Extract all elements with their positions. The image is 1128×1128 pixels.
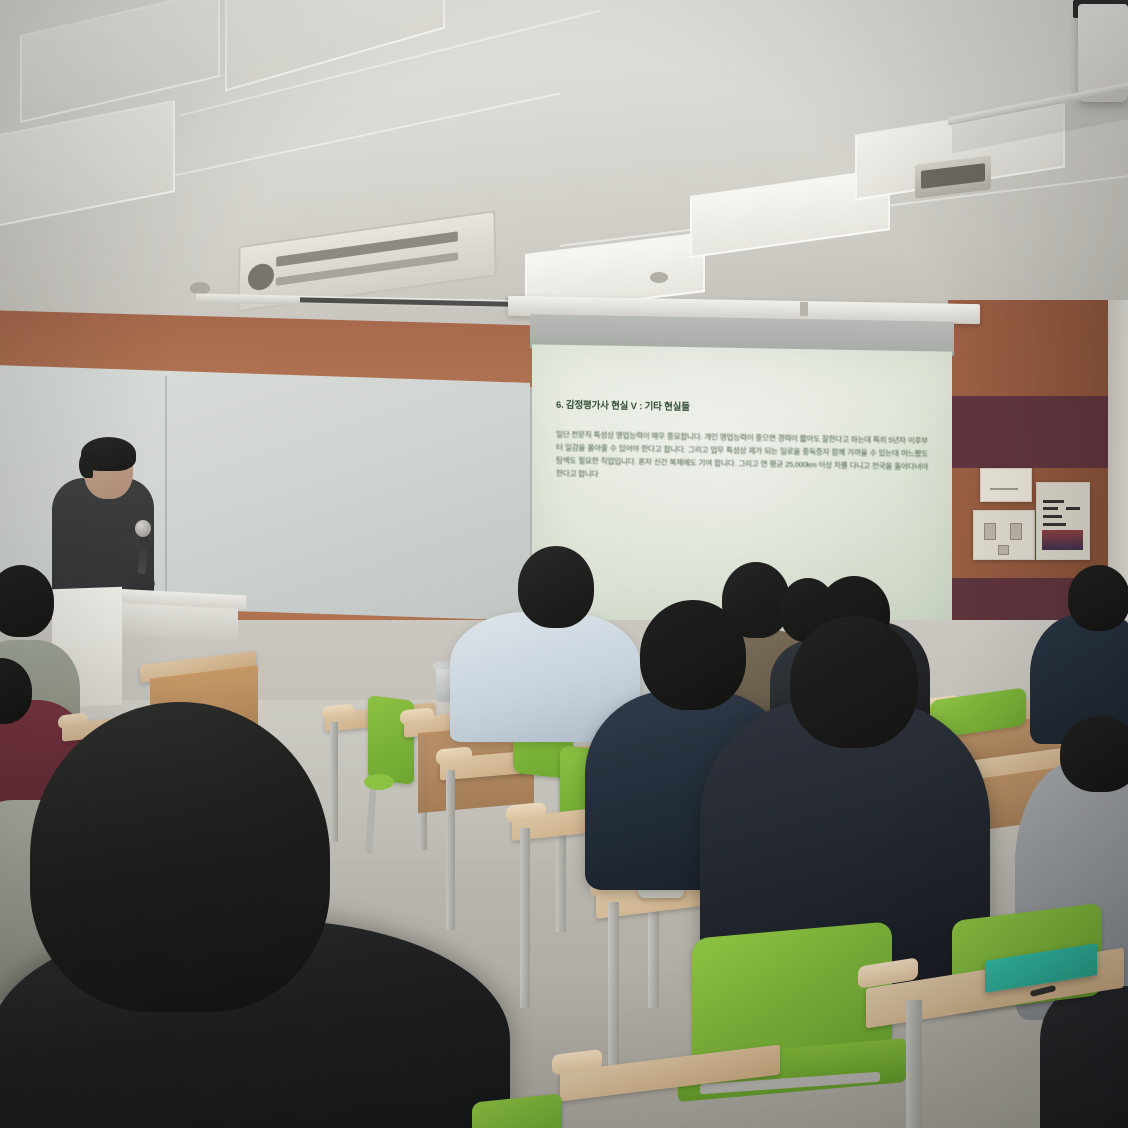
desk-leg [446,770,455,930]
person-head [1060,716,1128,792]
person-head [640,600,746,710]
desk-leg [906,1000,922,1128]
vent-knob [247,262,273,292]
foreground-person-head [30,702,330,1012]
whiteboard-seam [165,376,167,616]
smoke-detector-icon [190,282,210,294]
slide-content: 6. 감정평가사 현실 V : 기타 현실들 일단 전문직 특성상 영업능력이 … [556,397,928,533]
chair-back [368,695,414,785]
desk-leg [520,828,530,1008]
presenter-hair-side [79,452,93,478]
right-wall-band [948,396,1128,468]
desk-leg [330,722,338,842]
chair-seat [364,774,394,790]
wall-poster [973,510,1035,560]
desk-edge [436,746,472,765]
person-head [1068,565,1128,631]
person-head [790,616,918,748]
person-torso [1040,986,1128,1128]
wall-poster [1036,482,1090,560]
smoke-detector-icon [650,272,668,283]
wall-poster [980,468,1032,502]
person-head [518,546,594,628]
lecture-hall-photo: 6. 감정평가사 현실 V : 기타 현실들 일단 전문직 특성상 영업능력이 … [0,0,1128,1128]
screen-bracket [800,302,808,316]
microphone-icon [135,520,151,537]
slide-body-text: 일단 전문직 특성상 영업능력이 매우 중요합니다. 개인 영업능력이 좋으면 … [556,428,928,487]
